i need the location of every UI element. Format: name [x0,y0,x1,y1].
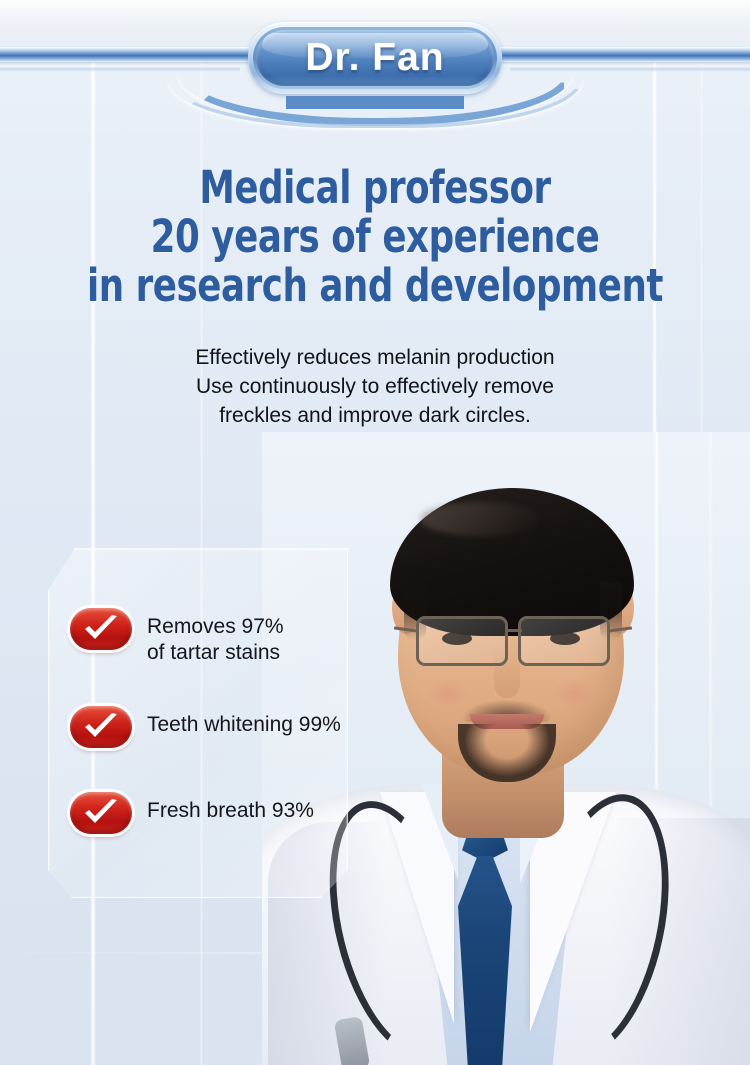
page-title: Medical professor 20 years of experience… [45,163,705,310]
ribbon-echo-right-icon [510,66,750,72]
background-seam [90,0,96,1065]
list-item[interactable]: Removes 97% of tartar stains [70,608,410,666]
doctor-name-badge: Dr. Fan [248,22,502,94]
lens-left [416,616,508,666]
subtitle-text: Effectively reduces melanin production U… [0,343,750,430]
subtitle-line-3: freckles and improve dark circles. [0,401,750,430]
list-item-label: Teeth whitening 99% [147,706,341,738]
necktie-body [458,856,512,1065]
feature-2-line-1: Teeth whitening 99% [147,712,341,738]
feature-1-line-2: of tartar stains [147,640,284,666]
badge-face: Dr. Fan [256,30,494,86]
header-banner: Dr. Fan [0,0,750,128]
feature-3-line-1: Fresh breath 93% [147,798,314,824]
cheek-left [426,678,470,708]
poster-root: Dr. Fan Medical professor 20 years of ex… [0,0,750,1065]
badge-title-text: Dr. Fan [305,36,444,80]
check-icon [70,608,132,650]
list-item-label: Removes 97% of tartar stains [147,608,284,666]
subtitle-line-2: Use continuously to effectively remove [0,372,750,401]
lens-right [518,616,610,666]
headline-line-1: Medical professor [45,163,705,212]
headline-line-2: 20 years of experience [45,212,705,261]
headline-line-3: in research and development [45,261,705,310]
list-item-label: Fresh breath 93% [147,792,314,824]
ribbon-echo-left-icon [0,66,240,72]
cheek-right [552,678,596,708]
feature-1-line-1: Removes 97% [147,614,284,640]
glasses-bridge [508,629,522,632]
list-item[interactable]: Teeth whitening 99% [70,706,410,752]
list-item[interactable]: Fresh breath 93% [70,792,410,838]
feature-list: Removes 97% of tartar stains Teeth white… [70,608,410,838]
subtitle-line-1: Effectively reduces melanin production [0,343,750,372]
check-icon [70,792,132,834]
check-icon [70,706,132,748]
eyeglasses-icon [402,616,624,672]
background-seam [200,0,203,1065]
badge-ring: Dr. Fan [253,27,497,89]
